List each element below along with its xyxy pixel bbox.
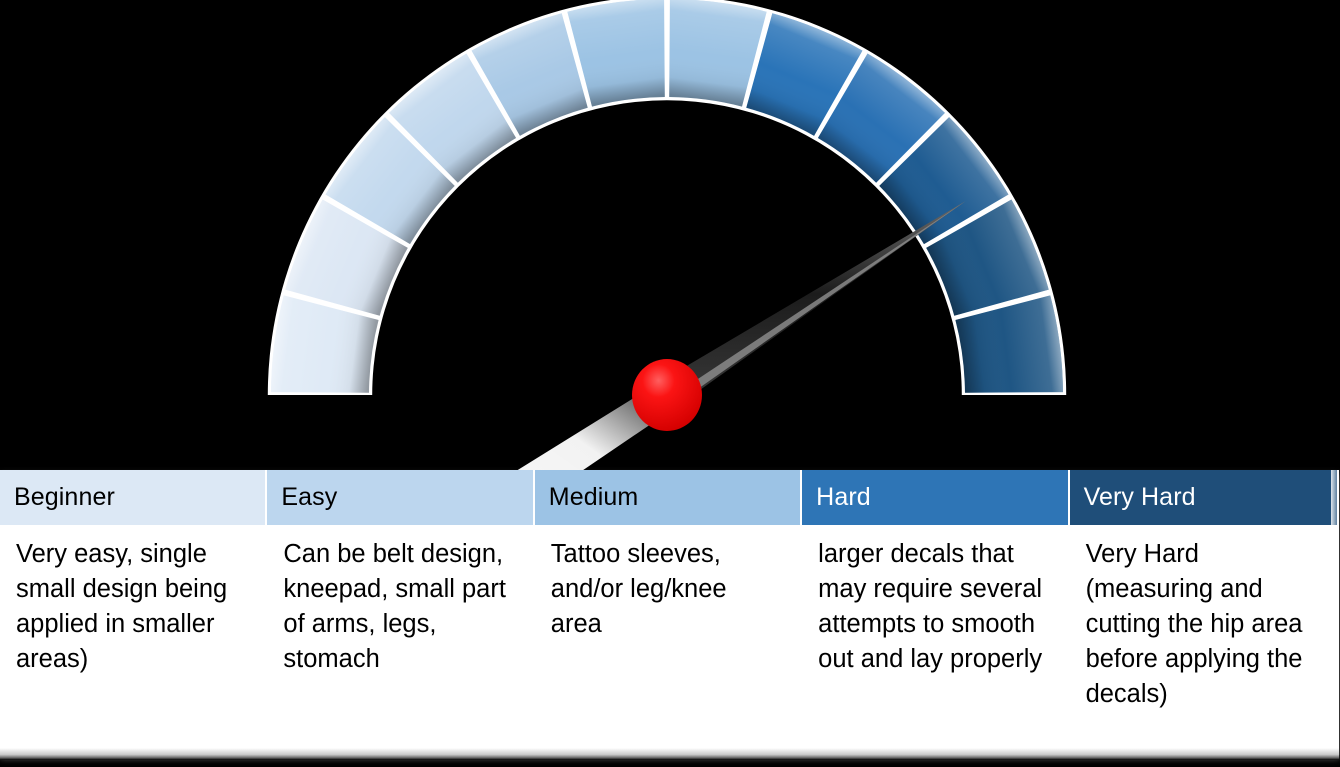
gauge-needle-group	[378, 201, 965, 470]
legend-header-easy: Easy	[267, 470, 534, 525]
legend-header-hard: Hard	[802, 470, 1069, 525]
gauge-needle-hub	[632, 359, 702, 431]
legend-desc-medium: Tattoo sleeves, and/or leg/knee area	[535, 525, 802, 755]
table-right-edge	[1331, 470, 1340, 755]
gauge-needle-tail	[378, 382, 675, 470]
gauge-segment-group	[268, 0, 1066, 395]
legend-desc-hard: larger decals that may require several a…	[802, 525, 1069, 755]
legend-desc-easy: Can be belt design, kneepad, small part …	[267, 525, 534, 755]
legend-header-medium: Medium	[535, 470, 802, 525]
slide-canvas: Beginner Easy Medium Hard Very Hard Very…	[0, 0, 1340, 767]
gauge-needle-highlight	[669, 201, 966, 406]
gauge-svg	[0, 0, 1340, 470]
legend-body-row: Very easy, single small design being app…	[0, 525, 1339, 755]
table-bottom-shadow	[0, 748, 1339, 760]
legend-header-beginner: Beginner	[0, 470, 267, 525]
legend-desc-beginner: Very easy, single small design being app…	[0, 525, 267, 755]
difficulty-gauge	[0, 0, 1340, 470]
legend-header-very-hard: Very Hard	[1070, 470, 1337, 525]
legend-desc-very-hard: Very Hard (measuring and cutting the hip…	[1070, 525, 1337, 755]
legend-header-row: Beginner Easy Medium Hard Very Hard	[0, 470, 1339, 525]
difficulty-legend-table: Beginner Easy Medium Hard Very Hard Very…	[0, 470, 1339, 755]
